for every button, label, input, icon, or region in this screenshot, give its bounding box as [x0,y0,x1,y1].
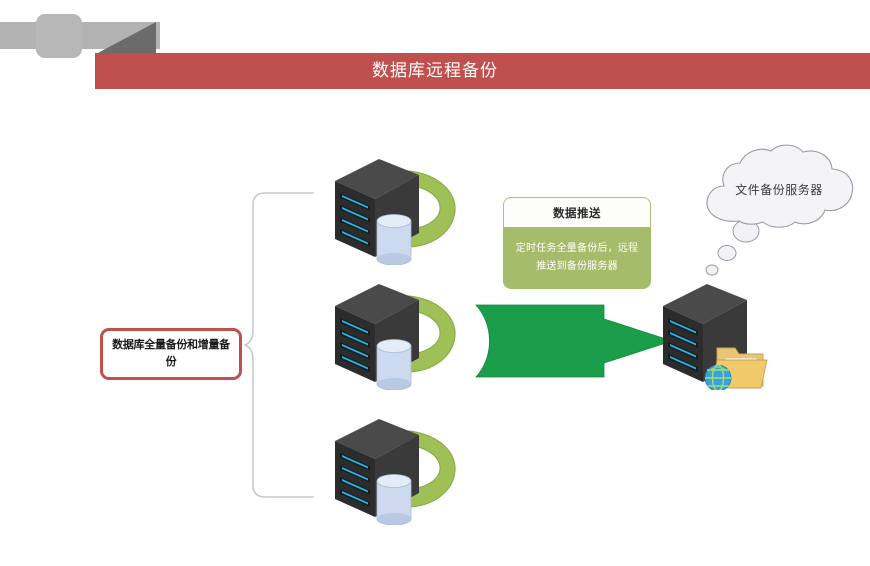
data-push-arrow [474,303,674,379]
database-cylinder [377,340,411,391]
database-server-3 [327,417,475,525]
globe-icon [705,365,731,390]
database-cylinder [377,475,411,526]
file-backup-server [655,282,780,390]
callout-body: 定时任务全量备份后，远程推送到备份服务器 [503,227,651,289]
callout-header: 数据推送 [503,197,651,227]
source-label-box: 数据库全量备份和增量备份 [100,328,242,380]
callout-body-text: 定时任务全量备份后，远程推送到备份服务器 [513,240,641,275]
page-title: 数据库远程备份 [0,53,870,89]
database-server-2 [327,282,475,390]
grouping-brace [243,190,315,500]
database-server-1 [327,157,475,265]
header-decoration-square [36,14,82,58]
slide-canvas: 数据库远程备份 数据库全量备份和增量备份 [0,0,870,566]
source-label-text: 数据库全量备份和增量备份 [109,337,233,371]
callout-header-text: 数据推送 [553,205,601,221]
header-decoration-wedge [96,22,156,54]
database-cylinder [377,215,411,266]
data-push-callout: 数据推送 定时任务全量备份后，远程推送到备份服务器 [503,197,651,289]
cloud-label: 文件备份服务器 [695,143,863,229]
